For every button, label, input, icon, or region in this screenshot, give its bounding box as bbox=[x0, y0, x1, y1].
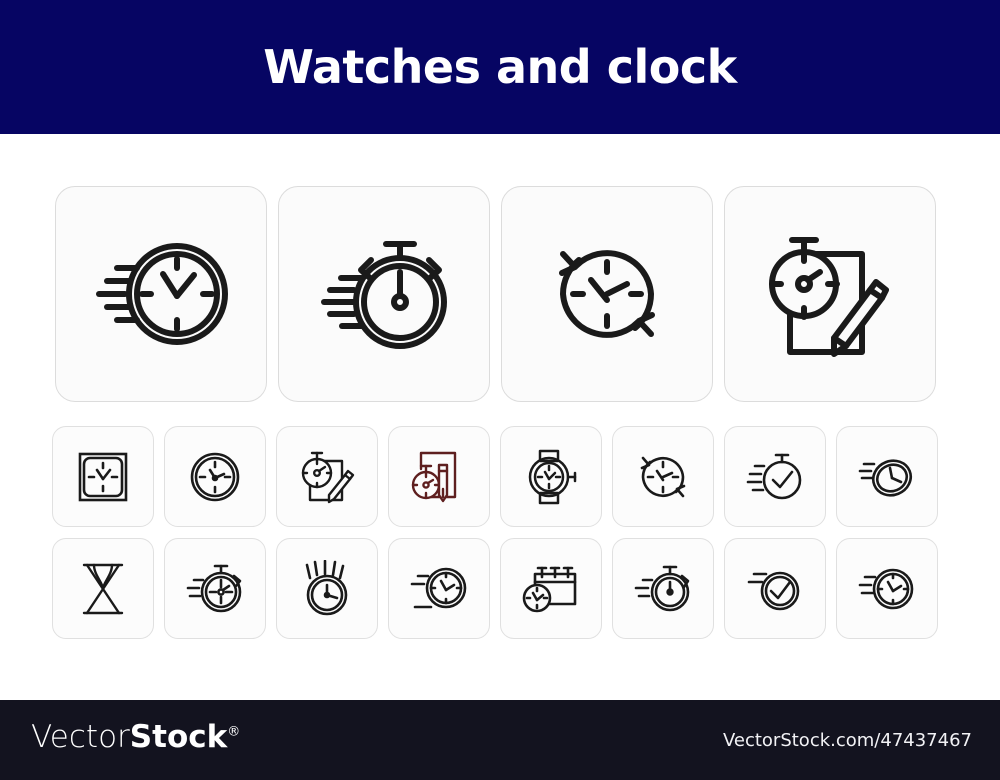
icon-card-clock-rotate[interactable] bbox=[501, 186, 713, 402]
vectorstock-logo: VectorStock® bbox=[31, 722, 240, 753]
icon-card-fast-stopwatch-row2[interactable] bbox=[164, 538, 266, 639]
brand-name-light: Vector bbox=[31, 719, 130, 755]
stopwatch-note-pen-icon bbox=[299, 449, 355, 505]
round-wall-clock-icon bbox=[189, 451, 241, 503]
header-banner: Watches and clock bbox=[0, 0, 1000, 134]
icon-card-clock-motion-up[interactable] bbox=[276, 538, 378, 639]
stopwatch-clipboard-pen-icon bbox=[411, 449, 467, 505]
fast-clock-icon bbox=[409, 563, 469, 615]
featured-icon-row bbox=[55, 186, 948, 402]
icon-card-fast-clock[interactable] bbox=[55, 186, 267, 402]
icon-card-fast-clock-row2[interactable] bbox=[388, 538, 490, 639]
icon-card-fast-stopwatch-check[interactable] bbox=[724, 426, 826, 527]
fast-clock-icon bbox=[93, 234, 229, 354]
wristwatch-icon bbox=[522, 449, 580, 505]
icon-card-stopwatch-clipboard-pen[interactable] bbox=[388, 426, 490, 527]
clock-motion-up-icon bbox=[299, 560, 355, 618]
footer-watermark-bar: VectorStock® VectorStock.com/47437467 bbox=[0, 700, 1000, 780]
icon-card-fast-stopwatch[interactable] bbox=[278, 186, 490, 402]
icon-sheet bbox=[0, 134, 1000, 700]
icon-card-fast-tilted-clock[interactable] bbox=[836, 426, 938, 527]
square-wall-clock-icon bbox=[77, 451, 129, 503]
fast-stopwatch-icon bbox=[316, 232, 452, 356]
icon-card-stopwatch-note-pen[interactable] bbox=[276, 426, 378, 527]
icon-grid-row-2 bbox=[52, 538, 948, 639]
calendar-clock-icon bbox=[521, 562, 581, 616]
icon-grid-row-1 bbox=[52, 426, 948, 527]
icon-card-fast-clock-small[interactable] bbox=[836, 538, 938, 639]
fast-stopwatch-check-icon bbox=[746, 450, 804, 504]
icon-card-wristwatch[interactable] bbox=[500, 426, 602, 527]
icon-card-calendar-clock[interactable] bbox=[500, 538, 602, 639]
clock-rotate-icon bbox=[545, 232, 669, 356]
hourglass-icon bbox=[79, 561, 127, 617]
page-title: Watches and clock bbox=[263, 44, 736, 90]
icon-card-clock-rotate-small[interactable] bbox=[612, 426, 714, 527]
clock-rotate-icon bbox=[636, 450, 690, 504]
footer-url: VectorStock.com/47437467 bbox=[723, 732, 972, 750]
fast-tilted-clock-icon bbox=[858, 451, 916, 503]
fast-stopwatch-plain-icon bbox=[633, 562, 693, 616]
fast-clock-small-icon bbox=[858, 563, 916, 615]
brand-name-bold: Stock bbox=[130, 719, 227, 755]
icon-card-hourglass[interactable] bbox=[52, 538, 154, 639]
icon-card-round-wall-clock[interactable] bbox=[164, 426, 266, 527]
icon-card-fast-stopwatch-plain[interactable] bbox=[612, 538, 714, 639]
icon-card-square-wall-clock[interactable] bbox=[52, 426, 154, 527]
registered-mark: ® bbox=[227, 725, 240, 740]
fast-check-circle-icon bbox=[746, 563, 804, 615]
fast-stopwatch-icon bbox=[185, 562, 245, 616]
icon-card-stopwatch-document-pen[interactable] bbox=[724, 186, 936, 402]
icon-card-fast-check-circle[interactable] bbox=[724, 538, 826, 639]
stopwatch-document-pen-icon bbox=[764, 228, 896, 360]
